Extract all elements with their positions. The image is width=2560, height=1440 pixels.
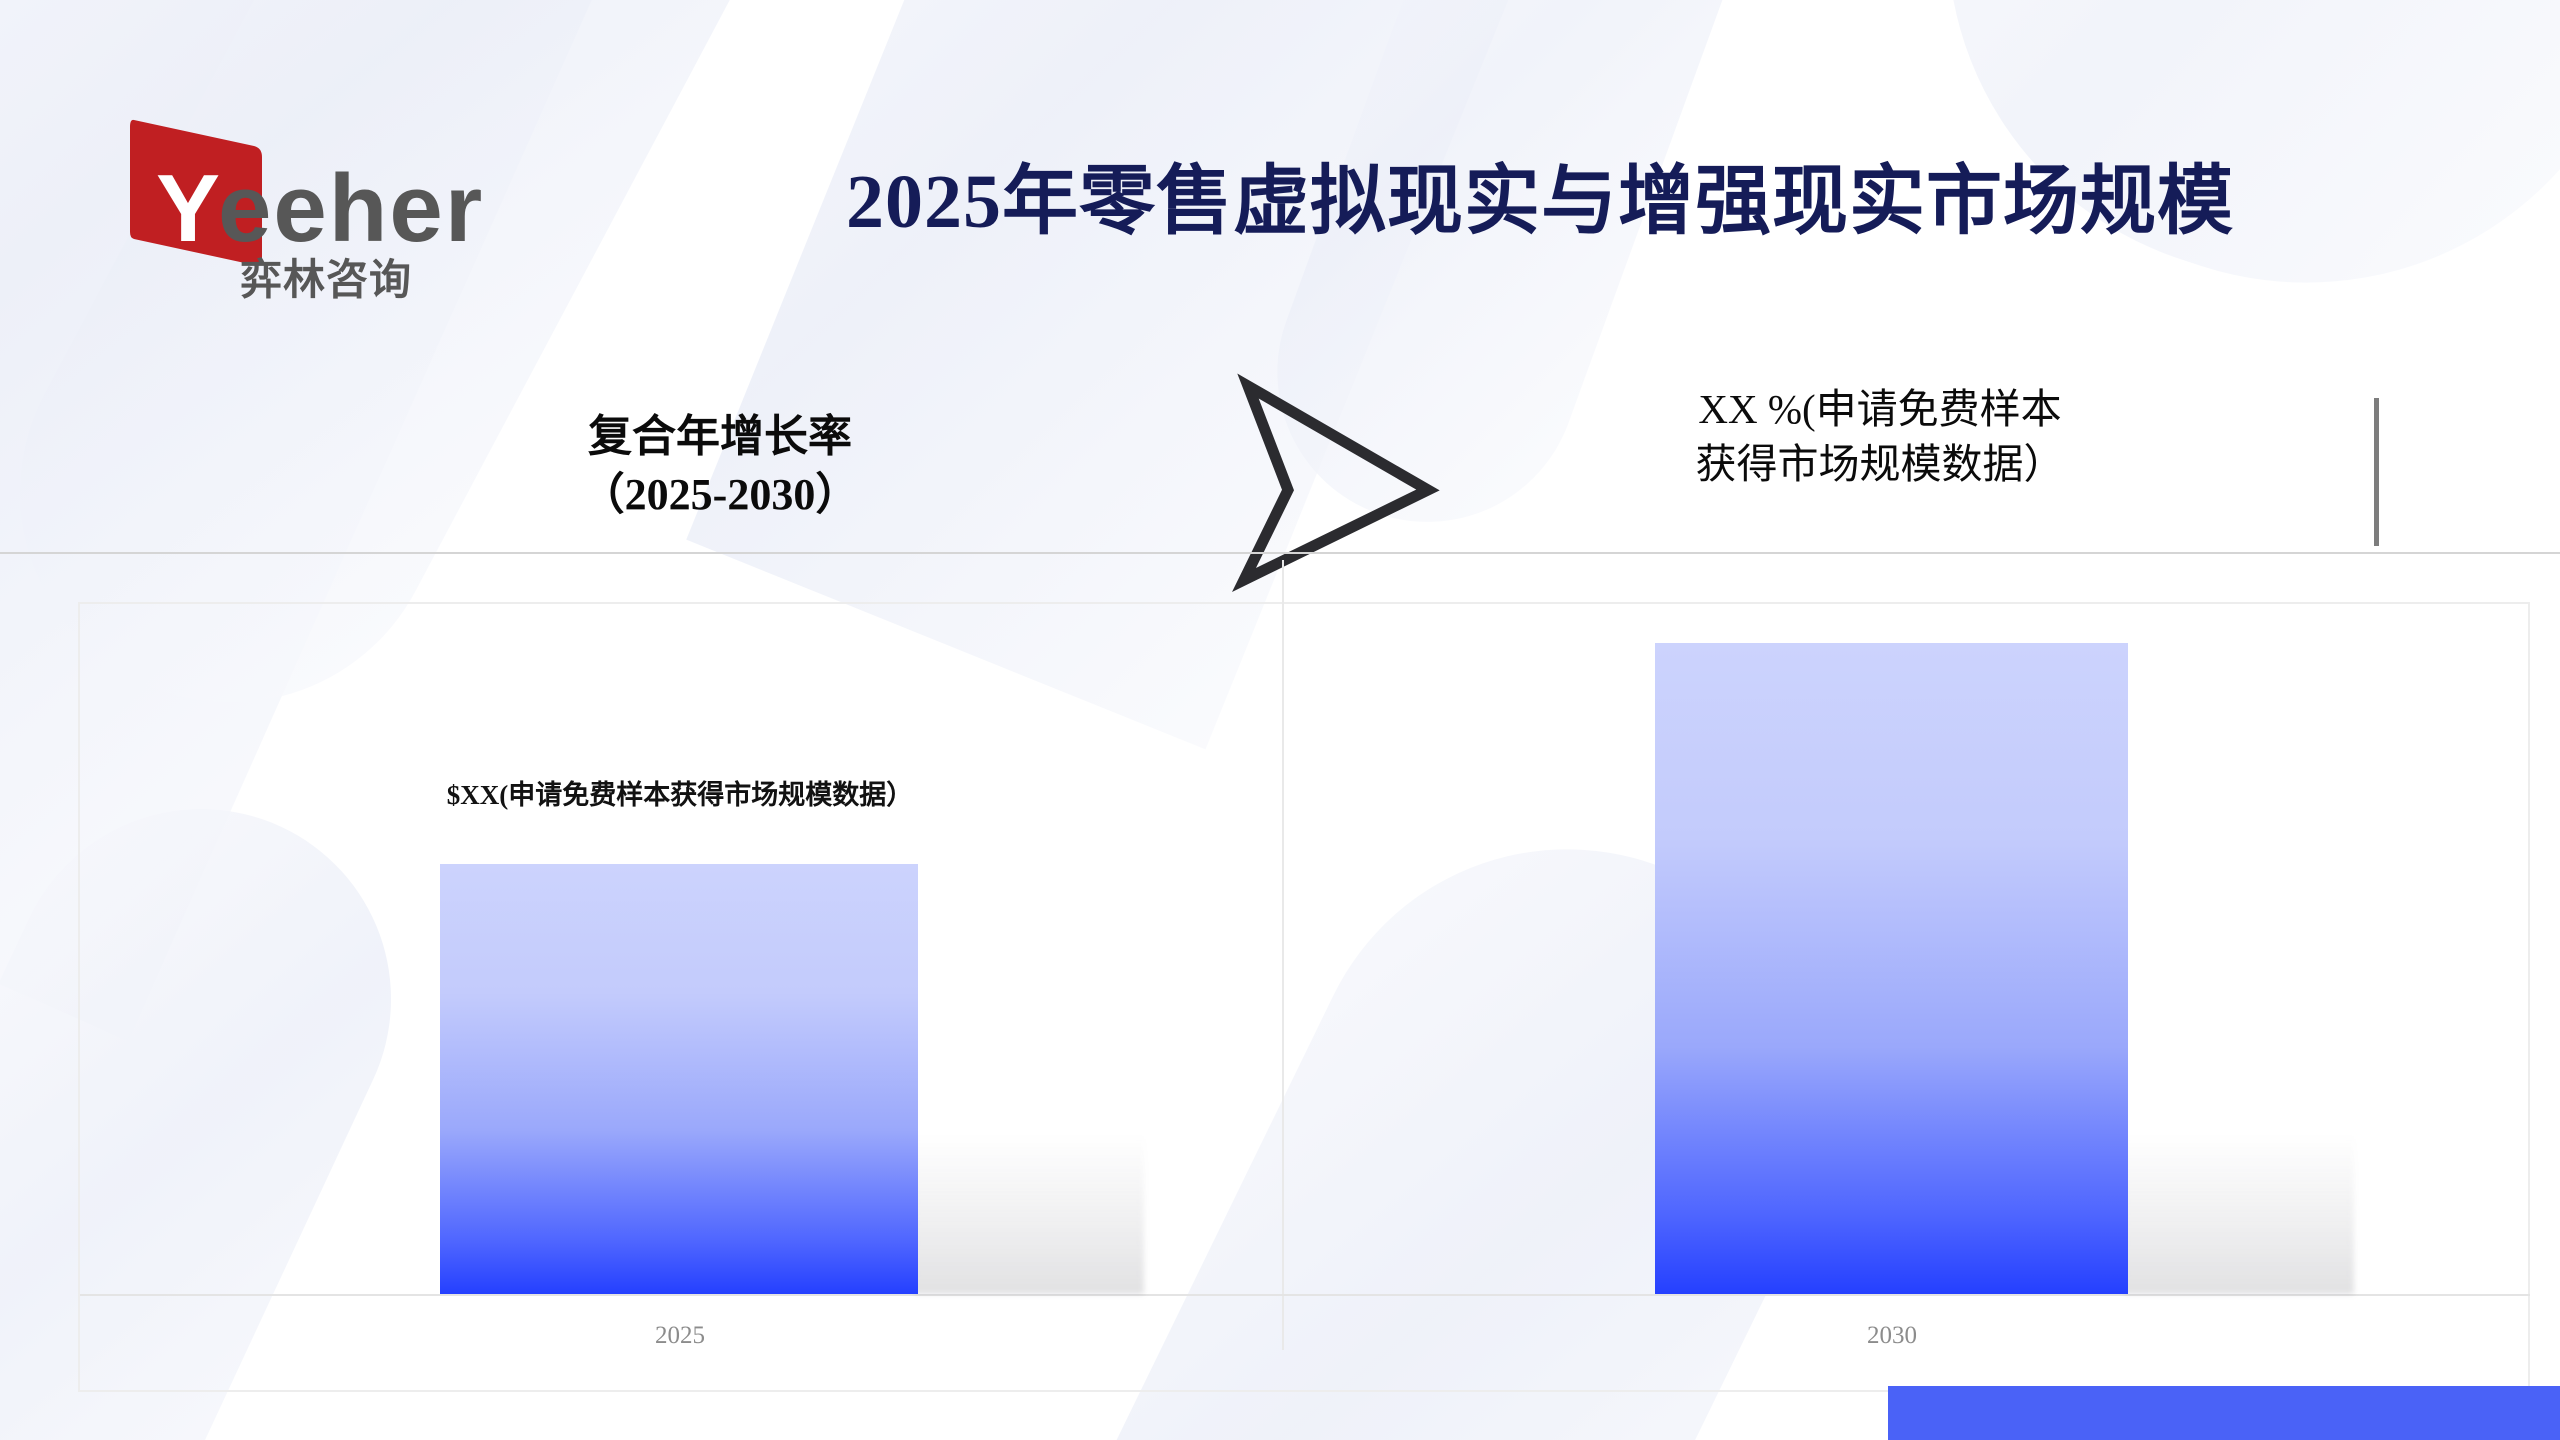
bar-2025[interactable]: [440, 864, 918, 1294]
arrow-outline-path: [1244, 386, 1428, 580]
bar-shadow: [2124, 1134, 2354, 1294]
cagr-period: （2025-2030）: [470, 466, 970, 524]
brand-logo: Y eeher 弈林咨询: [130, 108, 490, 308]
cagr-label: 复合年增长率: [470, 408, 970, 466]
percent-callout: XX %(申请免费样本 获得市场规模数据）: [1600, 382, 2160, 493]
percent-callout-line-1: XX %(申请免费样本: [1600, 382, 2160, 437]
slide-canvas: Y eeher 弈林咨询 2025年零售虚拟现实与增强现实市场规模 复合年增长率…: [0, 0, 2560, 1440]
bar-2030[interactable]: [1655, 643, 2128, 1294]
percent-callout-line-2: 获得市场规模数据）: [1600, 437, 2160, 492]
x-axis-tick-2030: 2030: [1772, 1322, 2012, 1350]
logo-letter-y: Y: [156, 155, 220, 262]
page-title: 2025年零售虚拟现实与增强现实市场规模: [640, 160, 2440, 245]
bar-fill-2030: [1655, 643, 2128, 1294]
x-axis-tick-2025: 2025: [560, 1322, 800, 1350]
chart-baseline: [80, 1294, 2530, 1296]
logo-wordmark: eeher: [218, 155, 484, 262]
vertical-divider: [2374, 398, 2379, 546]
bar-value-label-2025: $XX(申请免费样本获得市场规模数据）: [400, 778, 960, 813]
accent-band: [1888, 1386, 2560, 1440]
bar-shadow: [914, 1134, 1144, 1294]
cagr-callout: 复合年增长率 （2025-2030）: [470, 408, 970, 524]
bar-fill-2025: [440, 864, 918, 1294]
logo-chinese-name: 弈林咨询: [240, 255, 412, 304]
